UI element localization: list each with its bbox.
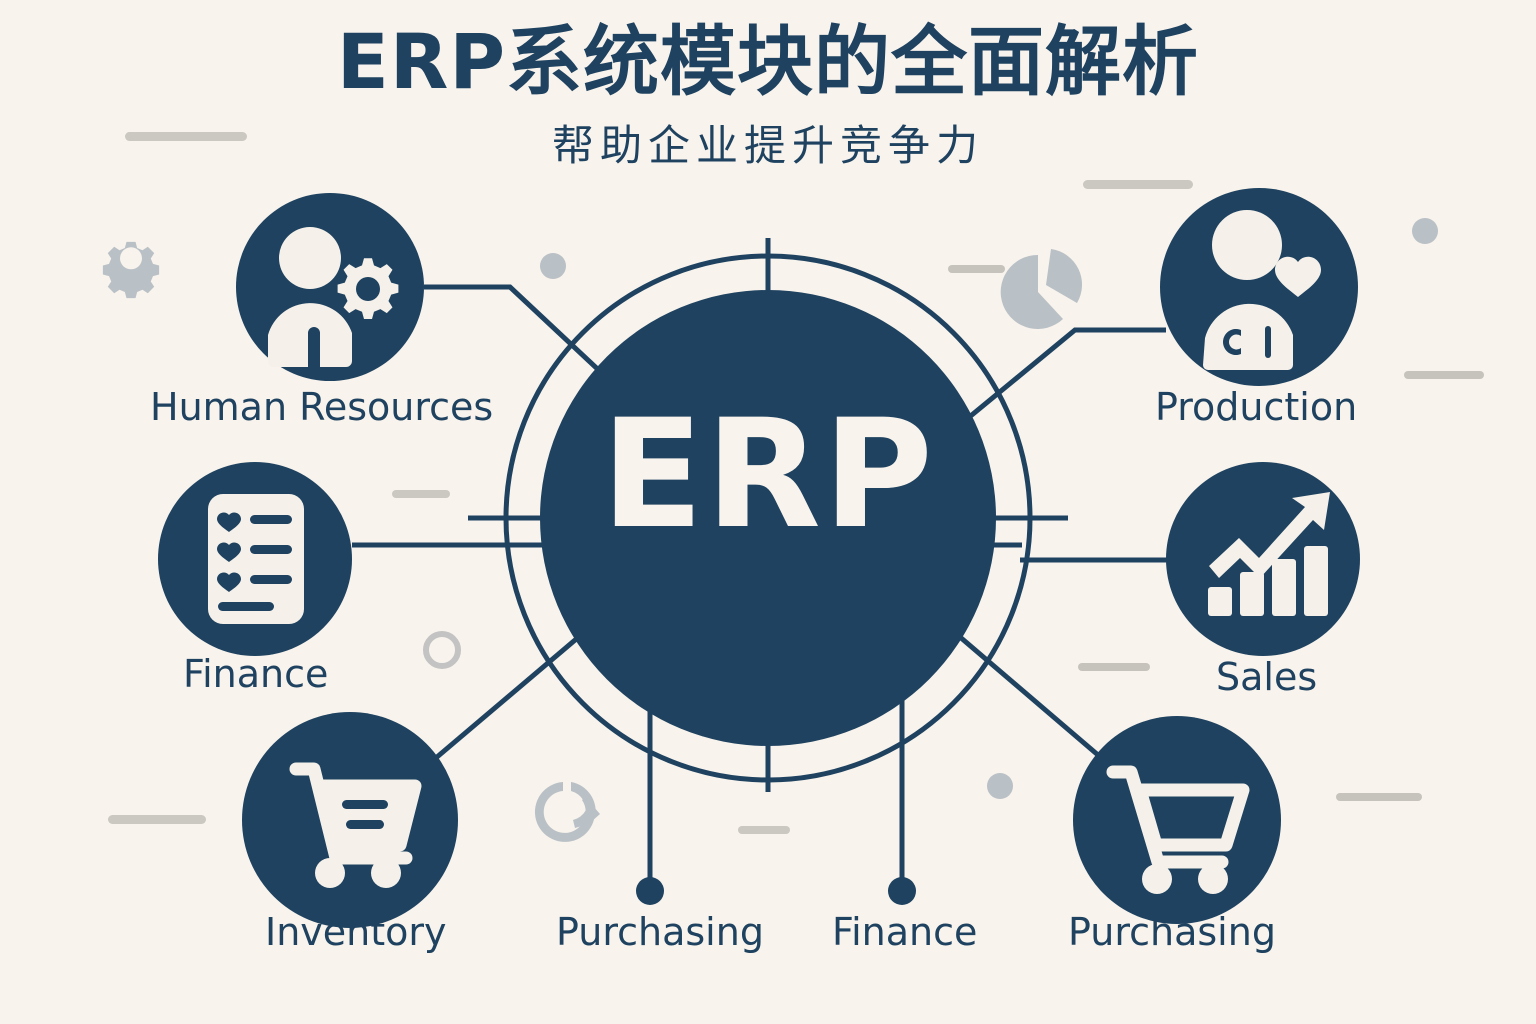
label-human-resources[interactable]: Human Resources xyxy=(150,385,493,429)
label-inventory[interactable]: Inventory xyxy=(265,910,447,954)
module-nodes xyxy=(0,0,1536,1024)
node-sales[interactable] xyxy=(1166,462,1360,656)
node-purchasing-right[interactable] xyxy=(1073,716,1281,924)
label-purchasing-right[interactable]: Purchasing xyxy=(1068,910,1276,954)
node-inventory[interactable] xyxy=(242,712,458,928)
node-finance-left[interactable] xyxy=(158,462,352,656)
label-finance-left[interactable]: Finance xyxy=(183,652,328,696)
node-circle[interactable] xyxy=(1073,716,1281,924)
checklist-document-icon xyxy=(208,494,304,624)
infographic-canvas: ERP xyxy=(0,0,1536,1024)
node-production[interactable] xyxy=(1160,188,1358,386)
node-human-resources[interactable] xyxy=(236,193,424,381)
label-sales[interactable]: Sales xyxy=(1216,655,1317,699)
label-production[interactable]: Production xyxy=(1155,385,1357,429)
label-purchasing-bottom[interactable]: Purchasing xyxy=(556,910,764,954)
label-finance-bottom[interactable]: Finance xyxy=(832,910,977,954)
